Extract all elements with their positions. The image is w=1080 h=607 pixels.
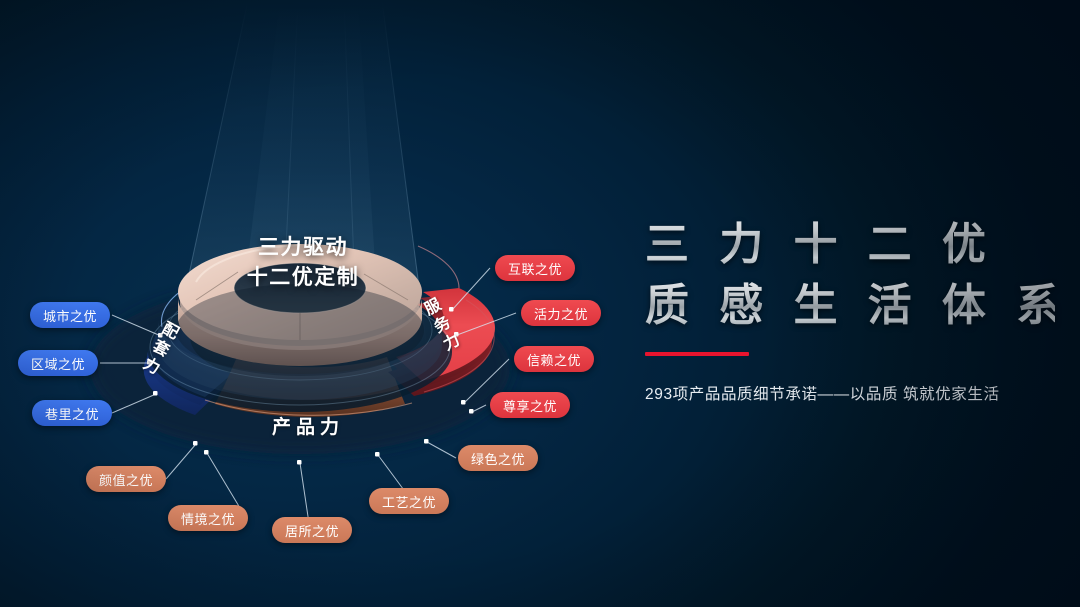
three-forces-ring-diagram: 配套力 服务力 产品力 三力驱动 十二优定制 城市之优 区域之优 巷里之优 互联… <box>0 0 620 607</box>
node-orange-yanzhi[interactable]: 颜值之优 <box>86 466 166 492</box>
node-orange-jusuo[interactable]: 居所之优 <box>272 517 352 543</box>
sector-label-chanpinli: 产品力 <box>272 412 344 439</box>
node-red-hulian[interactable]: 互联之优 <box>495 255 575 281</box>
headline-line-2: 质 感 生 活 体 系 <box>645 276 1055 337</box>
node-red-huoli[interactable]: 活力之优 <box>521 300 601 326</box>
slide-canvas: 配套力 服务力 产品力 三力驱动 十二优定制 城市之优 区域之优 巷里之优 互联… <box>0 0 1080 607</box>
node-red-zunxiang[interactable]: 尊享之优 <box>490 392 570 418</box>
node-orange-gongyi[interactable]: 工艺之优 <box>369 488 449 514</box>
node-blue-quyu[interactable]: 区域之优 <box>18 350 98 376</box>
node-blue-xiangli[interactable]: 巷里之优 <box>32 400 112 426</box>
node-red-xinlai[interactable]: 信赖之优 <box>514 346 594 372</box>
headline-line-1: 三 力 十 二 优 <box>645 215 1055 276</box>
node-orange-qingjing[interactable]: 情境之优 <box>168 505 248 531</box>
headline-panel: 三 力 十 二 优 质 感 生 活 体 系 293项产品品质细节承诺——以品质 … <box>645 215 1055 404</box>
central-torus <box>176 244 424 376</box>
headline-subtitle: 293项产品品质细节承诺——以品质 筑就优家生活 <box>645 382 1055 404</box>
node-orange-lvse[interactable]: 绿色之优 <box>458 445 538 471</box>
accent-underline <box>645 352 749 356</box>
node-blue-chengshi[interactable]: 城市之优 <box>30 302 110 328</box>
